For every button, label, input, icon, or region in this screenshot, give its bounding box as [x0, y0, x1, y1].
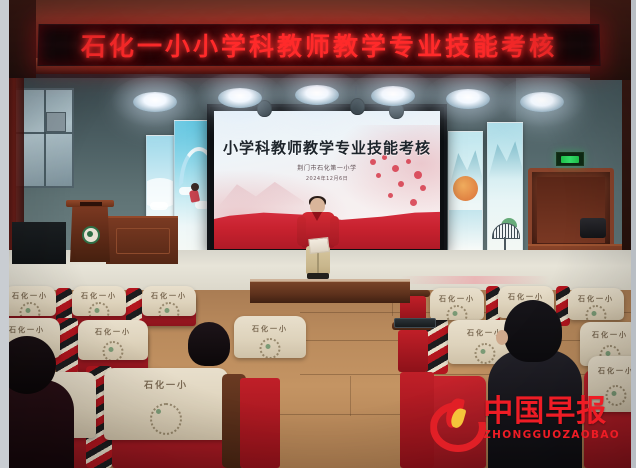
child-body: [189, 189, 200, 203]
child-illustration: [187, 183, 203, 205]
auditorium-photo: 小学科教师教学专业技能考核 荆门市石化第一小学 2024年12月6日: [0, 0, 636, 468]
stage-front-edge: [250, 281, 410, 303]
seat-cover-text: 石化一小: [580, 330, 636, 340]
flame-logo-icon: [430, 396, 476, 442]
decor-panel-sun: [448, 131, 483, 251]
podium-nameplate: [80, 202, 102, 206]
exit-sign-glyph: [561, 156, 579, 163]
school-emblem-icon: [260, 338, 281, 358]
presenter-left-arm: [297, 216, 306, 246]
fan-handle: [504, 237, 506, 251]
slide-subtitle: 荆门市石化第一小学: [214, 163, 440, 172]
school-emblem-icon: [89, 302, 110, 316]
stage-light-glow: [400, 276, 550, 284]
watermark-text-block: 中国早报 ZHONGGUOZAOBAO: [483, 397, 620, 441]
watermark: 中国早报 ZHONGGUOZAOBAO: [430, 396, 620, 442]
av-equipment-rack: [12, 222, 66, 264]
seat-cover-text: 石化一小: [0, 325, 60, 335]
ceiling-spotlight: [371, 86, 415, 106]
presenter-right-arm: [330, 216, 339, 246]
audience-member: [188, 322, 232, 372]
seat-cover: 石化一小: [72, 286, 126, 316]
school-emblem-icon: [103, 341, 124, 360]
seat-cover-text: 石化一小: [72, 291, 126, 301]
alcove-equipment-box: [580, 218, 606, 238]
wall-cabinet-alcove: [528, 168, 614, 252]
presenter-shoes: [307, 273, 329, 279]
school-emblem-icon: [159, 302, 180, 316]
ceiling-spotlight: [295, 85, 339, 105]
ceiling-spotlight: [446, 89, 490, 109]
seat-side-panel: [240, 378, 280, 468]
seat-cover: 石化一小: [78, 320, 148, 360]
hill-shape: [488, 133, 522, 179]
seat-cover: 石化一小: [4, 286, 56, 316]
light-fixture-head: [350, 98, 365, 115]
school-emblem-icon: [447, 305, 468, 320]
sun-icon: [453, 176, 478, 201]
school-emblem-icon: [150, 403, 182, 435]
seat-cover-text: 石化一小: [104, 378, 228, 391]
school-emblem-icon: [20, 302, 41, 316]
water-shape: [449, 210, 482, 250]
ceiling-spotlight: [218, 88, 262, 108]
slide-date: 2024年12月6日: [214, 175, 440, 182]
presenter-papers: [308, 237, 329, 254]
led-banner-text: 石化一小小学科教师教学专业技能考核: [81, 27, 558, 63]
led-banner: 石化一小小学科教师教学专业技能考核: [37, 24, 600, 66]
seat-cover-text: 石化一小: [78, 327, 148, 337]
slide-title: 小学科教师教学专业技能考核: [214, 137, 440, 158]
seat-side-panel: [398, 330, 428, 372]
audience-ear: [496, 330, 508, 345]
watermark-chinese: 中国早报: [483, 397, 620, 427]
audience-body: [0, 380, 74, 468]
seat-cover: 石化一小: [104, 368, 228, 440]
ceiling-spotlight: [520, 92, 564, 112]
writing-tablet: [394, 318, 436, 328]
audience-hair: [188, 322, 230, 366]
watermark-pinyin: ZHONGGUOZAOBAO: [483, 429, 620, 441]
seat-side-panel: [400, 372, 434, 468]
seat-cover: 石化一小: [142, 286, 196, 316]
seat-cover: 石化一小: [234, 316, 306, 358]
right-border: [631, 0, 636, 468]
audience-member: [0, 336, 66, 468]
school-emblem-icon: [82, 226, 100, 244]
exit-sign-icon: [556, 152, 584, 166]
audience-hair: [504, 300, 562, 362]
seat-cover-text: 石化一小: [430, 294, 484, 304]
decor-panel-fan: [487, 122, 523, 254]
child-head: [191, 183, 199, 191]
seat-cover-text: 石化一小: [234, 324, 306, 334]
wall-control-panel: [46, 112, 66, 132]
seat-cover: 石化一小: [430, 288, 484, 320]
seat-cover-text: 石化一小: [4, 291, 56, 301]
stage-credenza: [106, 216, 178, 264]
seat-cover-text: 石化一小: [588, 366, 636, 376]
audience-member: [486, 300, 582, 468]
cloud-shape: [150, 202, 168, 210]
presenter: [295, 198, 341, 280]
school-emblem-icon: [586, 305, 607, 320]
left-border: [0, 0, 9, 468]
seat-cover-text: 石化一小: [142, 291, 196, 301]
ceiling-spotlight: [133, 92, 177, 112]
